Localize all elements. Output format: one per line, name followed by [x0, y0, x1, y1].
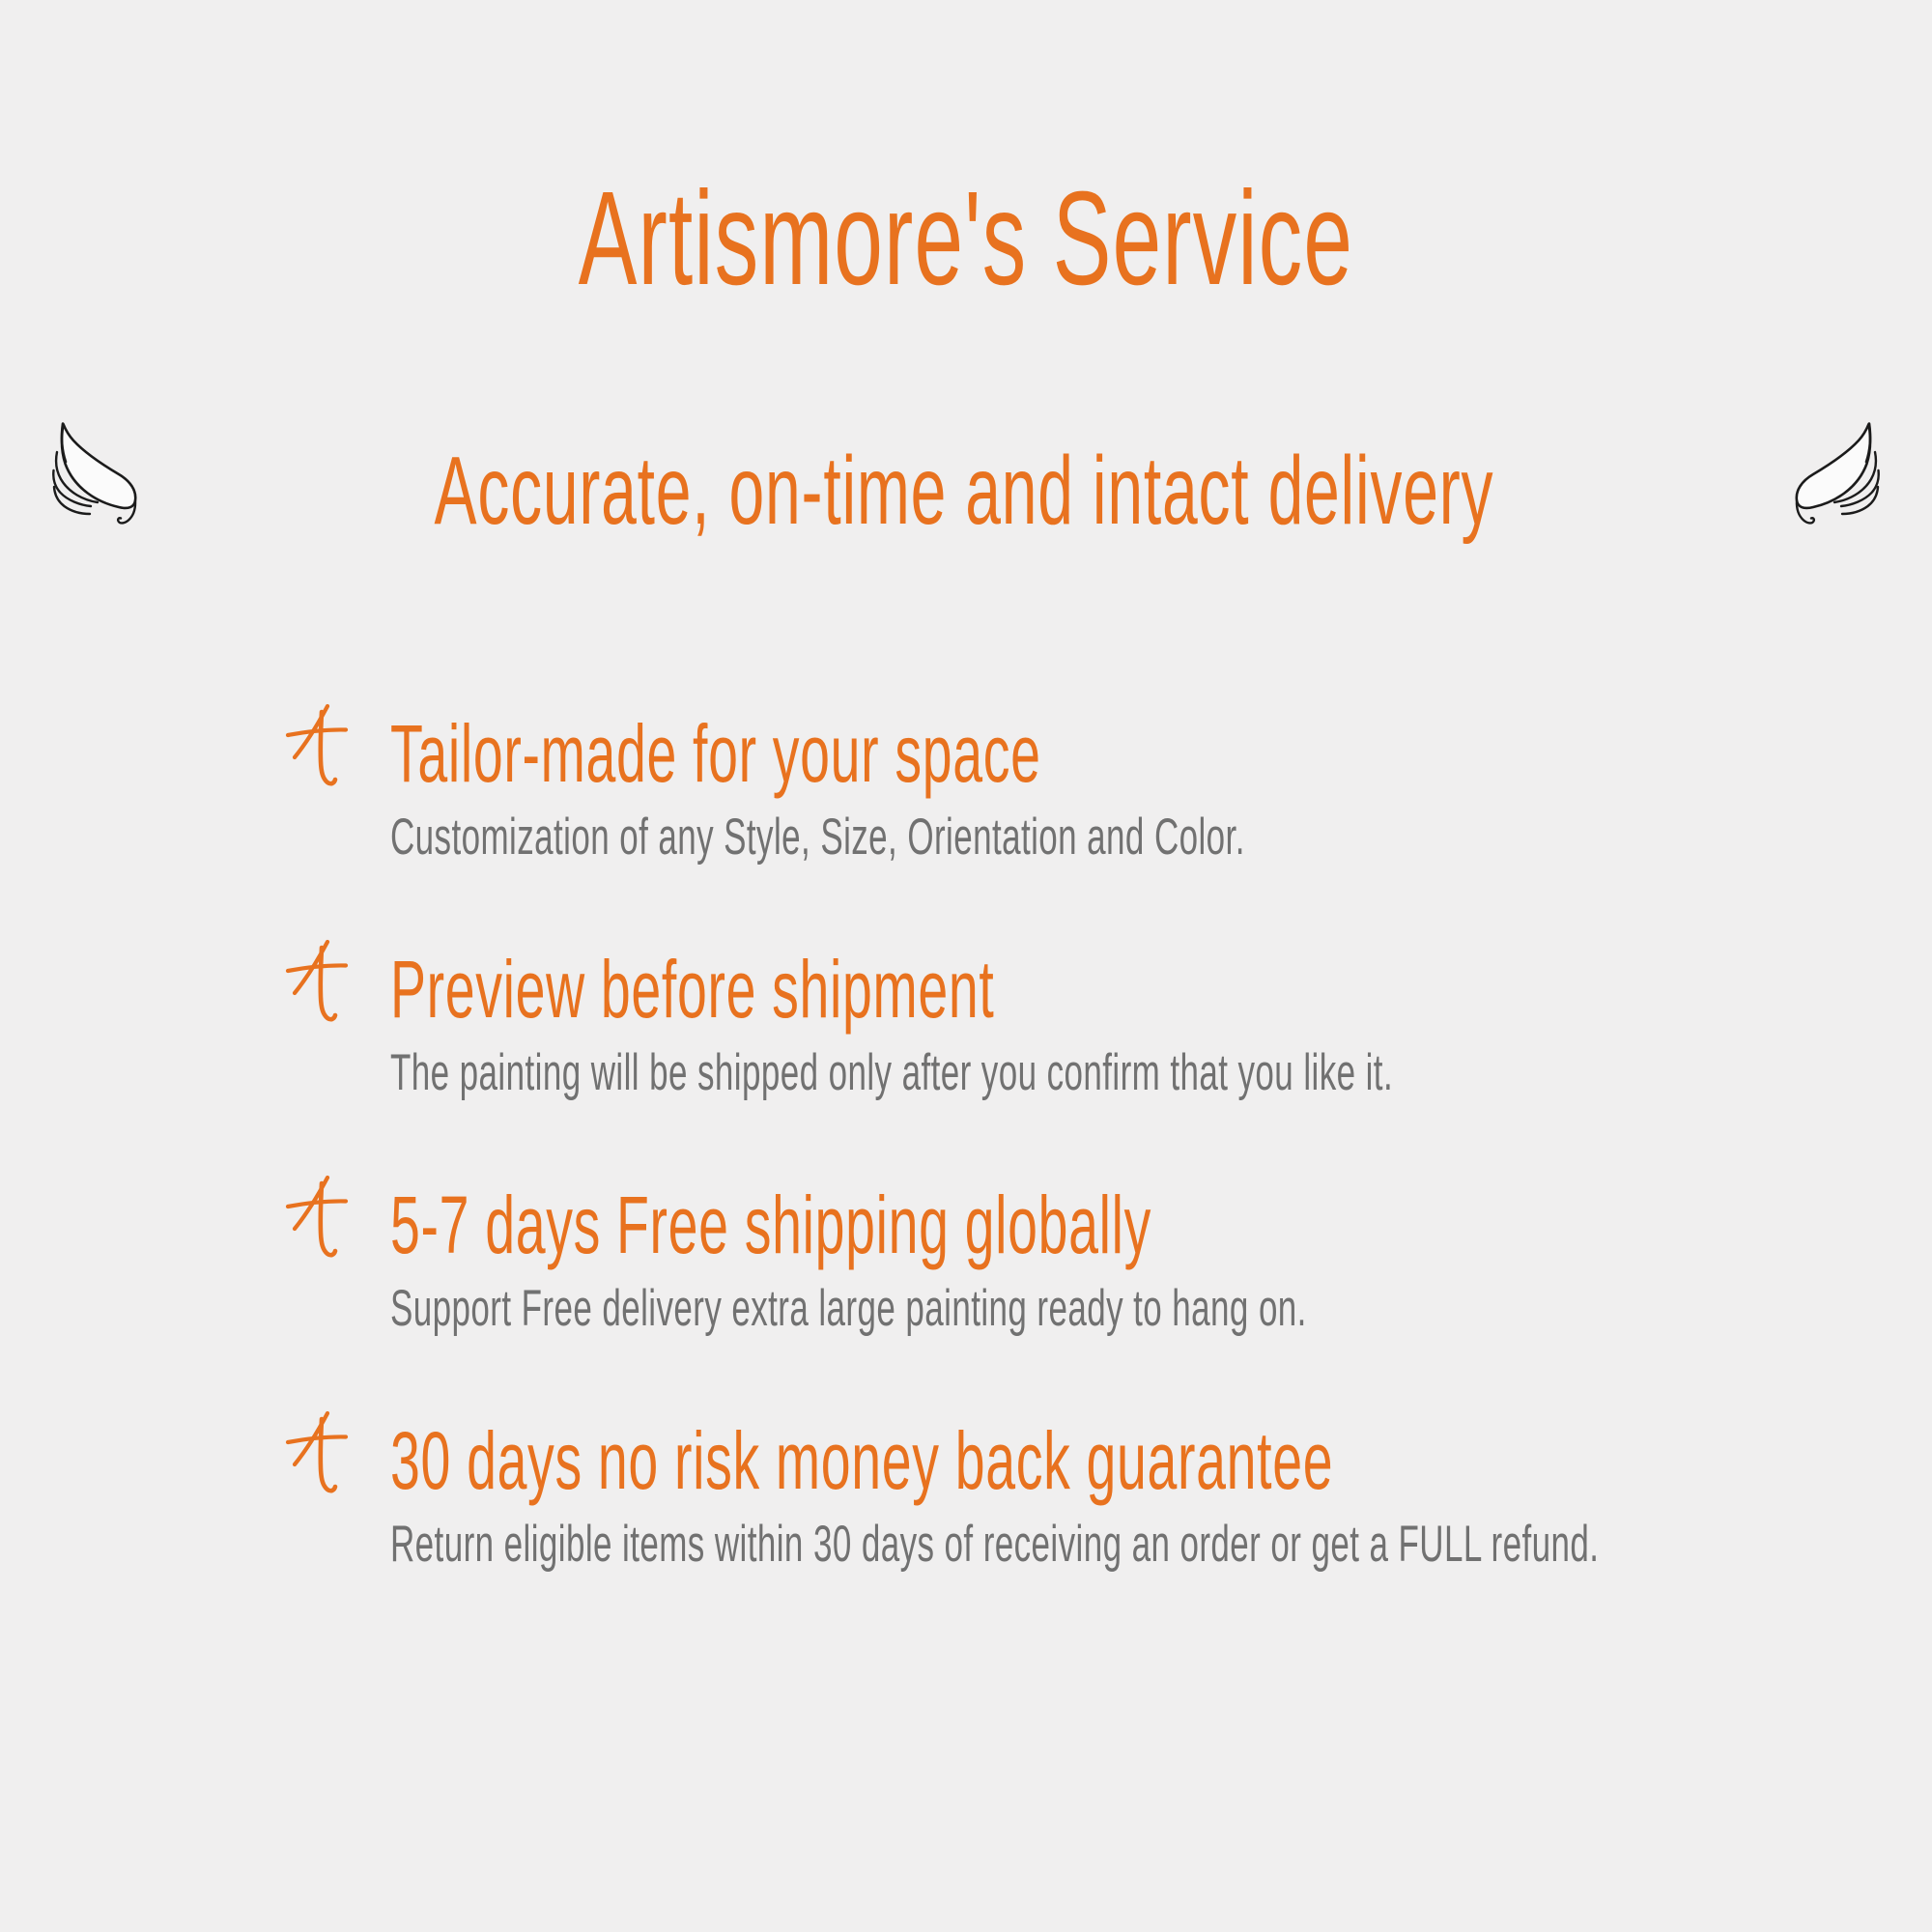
- service-description-text: Return eligible items within 30 days of …: [390, 1517, 1599, 1573]
- list-item: Preview before shipment The painting wil…: [282, 947, 1905, 1099]
- service-heading: Preview before shipment: [390, 947, 1905, 1016]
- service-heading-text: Preview before shipment: [390, 947, 994, 1032]
- script-a-icon: [282, 1175, 357, 1258]
- service-heading: 30 days no risk money back guarantee: [390, 1418, 1905, 1488]
- service-heading-text: 30 days no risk money back guarantee: [390, 1418, 1333, 1503]
- service-description: Customization of any Style, Size, Orient…: [390, 810, 1905, 864]
- script-a-icon: [282, 703, 357, 786]
- list-item: 5-7 days Free shipping globally Support …: [282, 1182, 1905, 1335]
- wing-icon: [1786, 417, 1890, 531]
- list-item: 30 days no risk money back guarantee Ret…: [282, 1418, 1905, 1571]
- service-heading: 5-7 days Free shipping globally: [390, 1182, 1905, 1252]
- wing-icon: [42, 417, 146, 531]
- tagline-banner: Accurate, on-time and intact delivery: [0, 417, 1932, 564]
- service-description-text: Support Free delivery extra large painti…: [390, 1281, 1307, 1337]
- service-description: Return eligible items within 30 days of …: [390, 1517, 1905, 1571]
- service-description-text: The painting will be shipped only after …: [390, 1045, 1393, 1101]
- service-description: Support Free delivery extra large painti…: [390, 1281, 1905, 1335]
- service-heading: Tailor-made for your space: [390, 711, 1905, 781]
- tagline-text: Accurate, on-time and intact delivery: [435, 440, 1494, 542]
- list-item: Tailor-made for your space Customization…: [282, 711, 1905, 864]
- tagline-text-container: Accurate, on-time and intact delivery: [156, 440, 1773, 542]
- page-title-container: Artismore's Service: [0, 172, 1932, 305]
- service-heading-text: 5-7 days Free shipping globally: [390, 1182, 1151, 1267]
- service-heading-text: Tailor-made for your space: [390, 711, 1041, 796]
- service-description: The painting will be shipped only after …: [390, 1045, 1905, 1099]
- page-title-text: Artismore's Service: [579, 172, 1353, 305]
- page-title: Artismore's Service: [0, 172, 1932, 305]
- script-a-icon: [282, 1410, 357, 1493]
- service-list: Tailor-made for your space Customization…: [282, 711, 1905, 1571]
- service-description-text: Customization of any Style, Size, Orient…: [390, 810, 1245, 866]
- script-a-icon: [282, 939, 357, 1022]
